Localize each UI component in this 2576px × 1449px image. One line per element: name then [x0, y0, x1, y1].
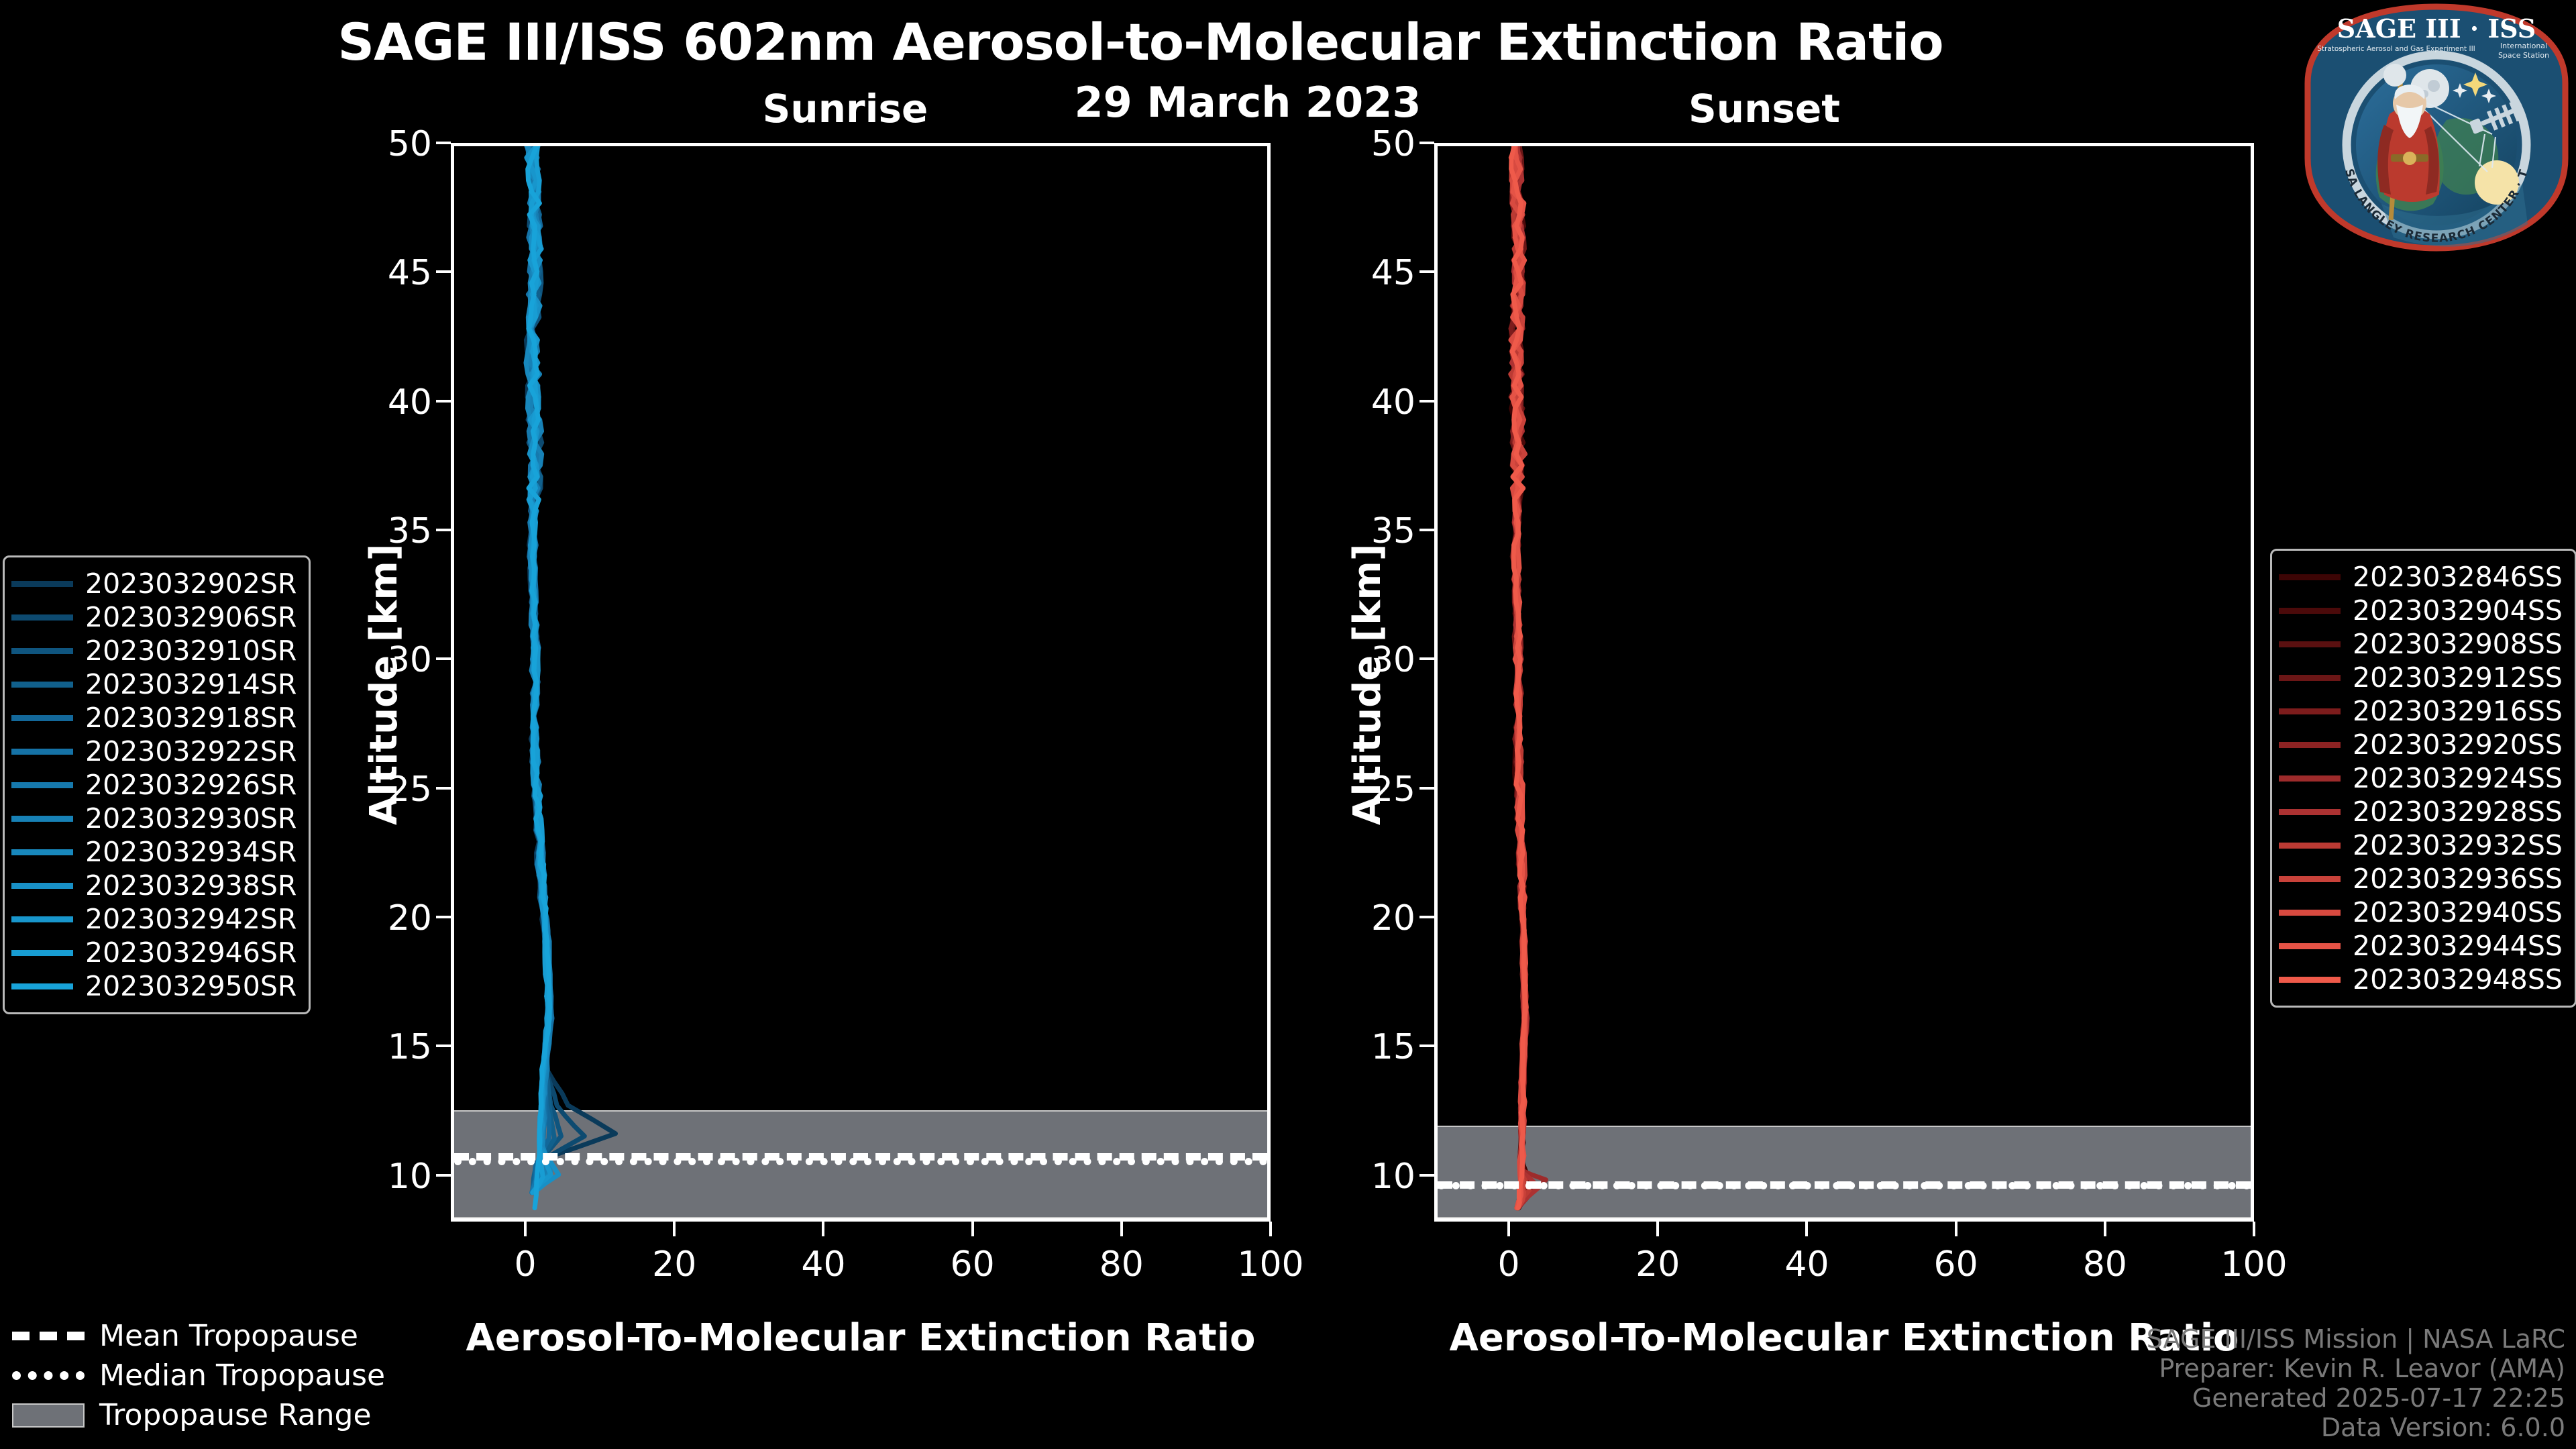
- median-tropopause-line: [454, 1158, 1267, 1165]
- sunset-plot-area[interactable]: [1434, 143, 2254, 1222]
- y-tick-mark: [436, 657, 451, 660]
- legend-item-label: 2023032938SR: [85, 869, 297, 902]
- legend-item[interactable]: 2023032920SS: [2279, 728, 2563, 761]
- y-tick-mark: [436, 916, 451, 918]
- x-tick-mark: [1805, 1222, 1808, 1236]
- legend-item[interactable]: 2023032950SR: [11, 969, 297, 1003]
- tropopause-legend-item[interactable]: Tropopause Range: [12, 1395, 385, 1435]
- legend-item[interactable]: 2023032936SS: [2279, 862, 2563, 896]
- legend-item[interactable]: 2023032948SS: [2279, 963, 2563, 996]
- logo-subtitle-right-line1: International: [2500, 42, 2547, 50]
- tropopause-legend-item[interactable]: Mean Tropopause: [12, 1316, 385, 1356]
- logo-title: SAGE III · ISS: [2337, 13, 2536, 44]
- legend-item[interactable]: 2023032918SR: [11, 701, 297, 735]
- x-tick-label: 80: [1068, 1244, 1175, 1285]
- median-tropopause-line: [1438, 1182, 2251, 1189]
- legend-item-label: 2023032926SR: [85, 769, 297, 801]
- legend-color-swatch: [2279, 843, 2341, 849]
- y-tick-label: 10: [1322, 1157, 1415, 1197]
- sunrise-series-legend[interactable]: 2023032902SR2023032906SR2023032910SR2023…: [3, 555, 311, 1014]
- y-tick-label: 40: [338, 382, 432, 423]
- band-key-icon: [12, 1405, 85, 1426]
- legend-color-swatch: [2279, 574, 2341, 580]
- legend-item-label: 2023032916SS: [2353, 695, 2563, 727]
- x-tick-mark: [822, 1222, 824, 1236]
- legend-item[interactable]: 2023032914SR: [11, 667, 297, 701]
- legend-item[interactable]: 2023032916SS: [2279, 694, 2563, 728]
- legend-color-swatch: [11, 849, 73, 855]
- legend-item-label: 2023032922SR: [85, 735, 297, 767]
- legend-item[interactable]: 2023032942SR: [11, 902, 297, 936]
- y-tick-mark: [436, 787, 451, 790]
- x-tick-label: 80: [2051, 1244, 2159, 1285]
- page-title: SAGE III/ISS 602nm Aerosol-to-Molecular …: [0, 12, 2281, 72]
- legend-color-swatch: [11, 648, 73, 654]
- legend-color-swatch: [11, 682, 73, 688]
- credits-line: Data Version: 6.0.0: [2147, 1413, 2565, 1442]
- y-tick-mark: [1419, 529, 1434, 531]
- legend-item-label: 2023032936SS: [2353, 863, 2563, 895]
- legend-item-label: 2023032910SR: [85, 635, 297, 667]
- y-tick-mark: [436, 400, 451, 402]
- legend-item-label: 2023032918SR: [85, 702, 297, 734]
- sunrise-y-axis-title: Altitude [km]: [362, 544, 406, 825]
- y-tick-label: 15: [338, 1027, 432, 1067]
- x-tick-mark: [2104, 1222, 2106, 1236]
- credits-line: SAGE III/ISS Mission | NASA LaRC: [2147, 1324, 2565, 1354]
- legend-item-label: 2023032944SS: [2353, 930, 2563, 962]
- legend-item[interactable]: 2023032912SS: [2279, 661, 2563, 694]
- credits-line: Preparer: Kevin R. Leavor (AMA): [2147, 1354, 2565, 1383]
- x-tick-label: 20: [621, 1244, 728, 1285]
- y-tick-label: 45: [1322, 253, 1415, 293]
- legend-color-swatch: [2279, 608, 2341, 614]
- x-tick-mark: [1507, 1222, 1510, 1236]
- y-tick-label: 50: [1322, 124, 1415, 164]
- legend-color-swatch: [11, 883, 73, 889]
- x-tick-mark: [1656, 1222, 1659, 1236]
- y-tick-mark: [1419, 270, 1434, 273]
- x-tick-label: 60: [919, 1244, 1026, 1285]
- legend-item[interactable]: 2023032902SR: [11, 567, 297, 600]
- x-tick-label: 0: [472, 1244, 579, 1285]
- x-tick-label: 0: [1455, 1244, 1562, 1285]
- profile-curves: [454, 146, 1267, 1218]
- x-tick-label: 100: [1217, 1244, 1324, 1285]
- legend-item-label: 2023032912SS: [2353, 661, 2563, 694]
- credits-line: Generated 2025-07-17 22:25: [2147, 1383, 2565, 1413]
- x-tick-label: 60: [1902, 1244, 2010, 1285]
- sunrise-plot-inner: [454, 146, 1267, 1218]
- legend-item-label: 2023032906SR: [85, 601, 297, 633]
- legend-color-swatch: [11, 782, 73, 788]
- legend-item[interactable]: 2023032932SS: [2279, 828, 2563, 862]
- y-tick-mark: [1419, 400, 1434, 402]
- sunset-panel-label: Sunset: [1630, 86, 1898, 131]
- y-tick-label: 20: [1322, 898, 1415, 938]
- sunrise-plot-area[interactable]: [451, 143, 1271, 1222]
- legend-item-label: 2023032946SR: [85, 936, 297, 969]
- x-tick-label: 40: [1753, 1244, 1860, 1285]
- tropopause-legend[interactable]: Mean TropopauseMedian TropopauseTropopau…: [12, 1316, 385, 1435]
- y-tick-label: 40: [1322, 382, 1415, 423]
- legend-color-swatch: [11, 816, 73, 822]
- legend-item-label: 2023032950SR: [85, 970, 297, 1002]
- legend-item-label: 2023032908SS: [2353, 628, 2563, 660]
- tropopause-legend-label: Median Tropopause: [99, 1358, 385, 1393]
- legend-item-label: 2023032948SS: [2353, 963, 2563, 996]
- legend-item[interactable]: 2023032910SR: [11, 634, 297, 667]
- y-tick-mark: [1419, 142, 1434, 144]
- legend-color-swatch: [2279, 910, 2341, 916]
- observation-date: 29 March 2023: [1013, 78, 1483, 127]
- legend-color-swatch: [2279, 775, 2341, 782]
- x-tick-mark: [524, 1222, 527, 1236]
- legend-item[interactable]: 2023032906SR: [11, 600, 297, 634]
- y-tick-label: 20: [338, 898, 432, 938]
- legend-item[interactable]: 2023032944SS: [2279, 929, 2563, 963]
- legend-item[interactable]: 2023032846SS: [2279, 560, 2563, 594]
- y-tick-label: 50: [338, 124, 432, 164]
- y-tick-label: 15: [1322, 1027, 1415, 1067]
- x-tick-mark: [971, 1222, 974, 1236]
- y-tick-mark: [436, 529, 451, 531]
- y-tick-mark: [1419, 916, 1434, 918]
- legend-item-label: 2023032904SS: [2353, 594, 2563, 627]
- x-tick-label: 100: [2200, 1244, 2308, 1285]
- legend-color-swatch: [11, 916, 73, 922]
- legend-item[interactable]: 2023032908SS: [2279, 627, 2563, 661]
- credits-block: SAGE III/ISS Mission | NASA LaRCPreparer…: [2147, 1324, 2565, 1442]
- legend-item-label: 2023032914SR: [85, 668, 297, 700]
- legend-item-label: 2023032930SR: [85, 802, 297, 835]
- legend-color-swatch: [11, 614, 73, 621]
- y-tick-mark: [436, 142, 451, 144]
- tropopause-legend-item[interactable]: Median Tropopause: [12, 1356, 385, 1395]
- y-tick-label: 45: [338, 253, 432, 293]
- legend-color-swatch: [2279, 809, 2341, 815]
- legend-color-swatch: [2279, 943, 2341, 949]
- x-tick-mark: [1120, 1222, 1123, 1236]
- x-tick-label: 40: [769, 1244, 877, 1285]
- legend-color-swatch: [2279, 641, 2341, 647]
- legend-color-swatch: [2279, 708, 2341, 714]
- legend-item[interactable]: 2023032934SR: [11, 835, 297, 869]
- logo-subtitle-left: Stratospheric Aerosol and Gas Experiment…: [2317, 45, 2475, 53]
- sunset-series-legend[interactable]: 2023032846SS2023032904SS2023032908SS2023…: [2270, 549, 2576, 1008]
- logo-subtitle-right-line2: Space Station: [2498, 51, 2549, 60]
- dashed-key-icon: [12, 1326, 85, 1346]
- legend-color-swatch: [2279, 876, 2341, 882]
- tropopause-legend-label: Mean Tropopause: [99, 1319, 358, 1353]
- legend-color-swatch: [11, 950, 73, 956]
- legend-item[interactable]: 2023032904SS: [2279, 594, 2563, 627]
- legend-item-label: 2023032940SS: [2353, 896, 2563, 928]
- legend-item[interactable]: 2023032926SR: [11, 768, 297, 802]
- legend-item[interactable]: 2023032946SR: [11, 936, 297, 969]
- y-tick-mark: [1419, 657, 1434, 660]
- profile-curves: [1438, 146, 2251, 1218]
- legend-color-swatch: [11, 983, 73, 989]
- y-tick-mark: [436, 1174, 451, 1177]
- legend-item-label: 2023032934SR: [85, 836, 297, 868]
- legend-color-swatch: [11, 749, 73, 755]
- sunset-y-axis-title: Altitude [km]: [1346, 544, 1389, 825]
- legend-item-label: 2023032924SS: [2353, 762, 2563, 794]
- sunset-x-axis-title: Aerosol-To-Molecular Extinction Ratio: [1434, 1316, 2254, 1360]
- legend-item-label: 2023032942SR: [85, 903, 297, 935]
- tropopause-legend-label: Tropopause Range: [99, 1398, 372, 1432]
- legend-item-label: 2023032932SS: [2353, 829, 2563, 861]
- sunrise-panel-label: Sunrise: [711, 86, 979, 131]
- legend-item-label: 2023032846SS: [2353, 561, 2563, 593]
- legend-item[interactable]: 2023032940SS: [2279, 896, 2563, 929]
- legend-item[interactable]: 2023032930SR: [11, 802, 297, 835]
- y-tick-mark: [1419, 787, 1434, 790]
- legend-color-swatch: [11, 581, 73, 587]
- legend-item[interactable]: 2023032924SS: [2279, 761, 2563, 795]
- legend-color-swatch: [2279, 675, 2341, 681]
- legend-color-swatch: [2279, 977, 2341, 983]
- dotted-key-icon: [12, 1366, 85, 1386]
- x-tick-mark: [1955, 1222, 1957, 1236]
- legend-color-swatch: [2279, 742, 2341, 748]
- y-tick-mark: [1419, 1174, 1434, 1177]
- legend-item-label: 2023032920SS: [2353, 729, 2563, 761]
- y-tick-mark: [1419, 1044, 1434, 1047]
- sunset-plot-inner: [1438, 146, 2251, 1218]
- x-tick-mark: [2253, 1222, 2255, 1236]
- legend-item-label: 2023032902SR: [85, 568, 297, 600]
- y-tick-mark: [436, 1044, 451, 1047]
- legend-item[interactable]: 2023032922SR: [11, 735, 297, 768]
- legend-item[interactable]: 2023032928SS: [2279, 795, 2563, 828]
- sunrise-x-axis-title: Aerosol-To-Molecular Extinction Ratio: [451, 1316, 1271, 1360]
- x-tick-label: 20: [1604, 1244, 1711, 1285]
- legend-item[interactable]: 2023032938SR: [11, 869, 297, 902]
- x-tick-mark: [673, 1222, 676, 1236]
- sage-iii-iss-mission-patch-icon: SAGE III · ISS Stratospheric Aerosol and…: [2302, 3, 2571, 252]
- legend-color-swatch: [11, 715, 73, 721]
- y-tick-label: 10: [338, 1157, 432, 1197]
- y-tick-mark: [436, 270, 451, 273]
- x-tick-mark: [1269, 1222, 1272, 1236]
- legend-item-label: 2023032928SS: [2353, 796, 2563, 828]
